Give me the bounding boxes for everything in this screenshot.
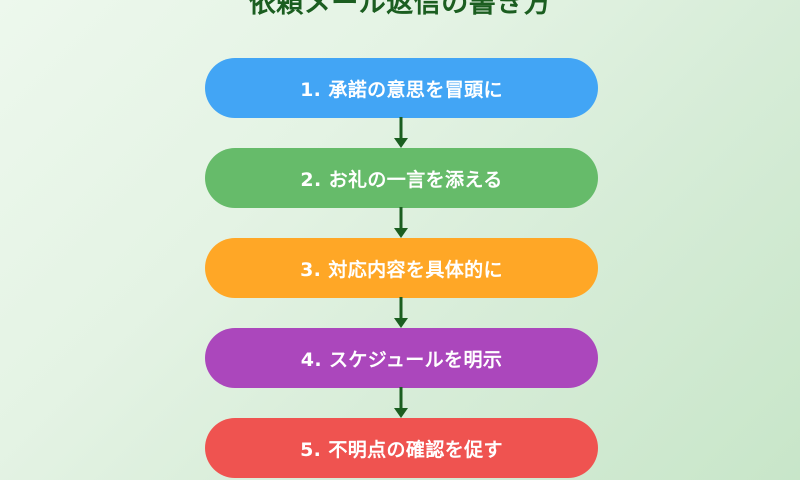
arrow-down-icon-4 (390, 387, 412, 419)
flow-step-1[interactable]: 1. 承諾の意思を冒頭に (205, 58, 598, 118)
flow-step-4[interactable]: 4. スケジュールを明示 (205, 328, 598, 388)
flow-step-2[interactable]: 2. お礼の一言を添える (205, 148, 598, 208)
arrow-down-icon-1 (390, 117, 412, 149)
flow-step-1-label: 1. 承諾の意思を冒頭に (300, 75, 503, 102)
arrow-down-icon-3 (390, 297, 412, 329)
arrow-down-icon-2 (390, 207, 412, 239)
flow-step-4-label: 4. スケジュールを明示 (301, 345, 503, 372)
flowchart-canvas: 依頼メール返信の書き方 1. 承諾の意思を冒頭に 2. お礼の一言を添える 3.… (0, 0, 800, 480)
flow-step-2-label: 2. お礼の一言を添える (300, 165, 502, 192)
flow-step-5-label: 5. 不明点の確認を促す (300, 435, 503, 462)
page-title: 依頼メール返信の書き方 (0, 0, 800, 20)
flow-step-3[interactable]: 3. 対応内容を具体的に (205, 238, 598, 298)
flow-step-3-label: 3. 対応内容を具体的に (300, 255, 503, 282)
flow-step-5[interactable]: 5. 不明点の確認を促す (205, 418, 598, 478)
